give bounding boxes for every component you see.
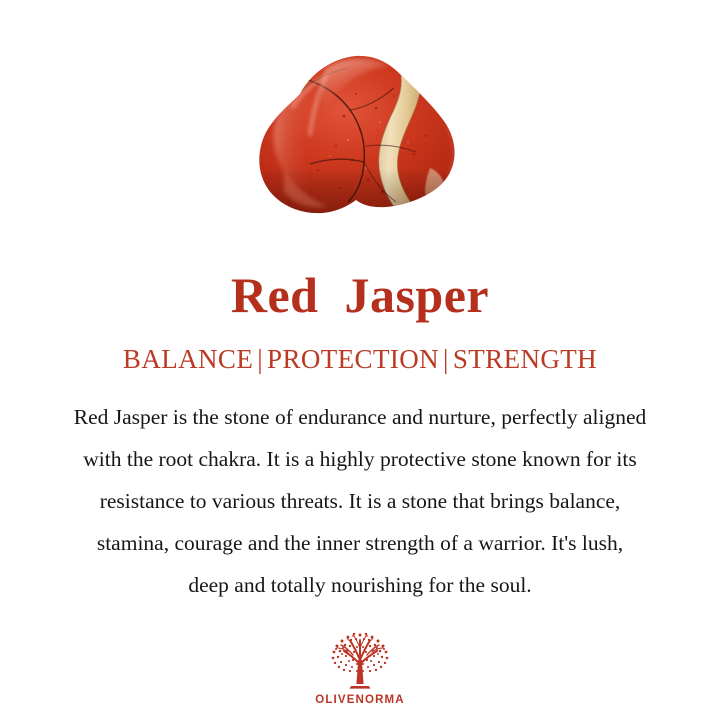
product-description: Red Jasper is the stone of endurance and…	[10, 396, 710, 606]
red-jasper-stone-image	[248, 50, 480, 226]
page-title: Red Jasper	[231, 270, 489, 320]
brand-logo: OLIVENORMA	[0, 630, 720, 707]
attribute-separator-1: |	[253, 344, 267, 374]
attribute-protection: PROTECTION	[267, 344, 439, 374]
product-info-card: Red Jasper BALANCE|PROTECTION|STRENGTH R…	[0, 0, 720, 720]
attribute-balance: BALANCE	[123, 344, 253, 374]
description-line: Red Jasper is the stone of endurance and…	[10, 396, 710, 438]
attribute-list: BALANCE|PROTECTION|STRENGTH	[123, 346, 597, 373]
description-line: deep and totally nourishing for the soul…	[10, 564, 710, 606]
description-line: resistance to various threats. It is a s…	[10, 480, 710, 522]
attribute-separator-2: |	[439, 344, 453, 374]
description-line: stamina, courage and the inner strength …	[10, 522, 710, 564]
stone-illustration	[248, 50, 480, 226]
brand-name: OLIVENORMA	[315, 695, 404, 707]
attribute-strength: STRENGTH	[453, 344, 597, 374]
tree-icon	[323, 630, 397, 692]
description-line: with the root chakra. It is a highly pro…	[10, 438, 710, 480]
